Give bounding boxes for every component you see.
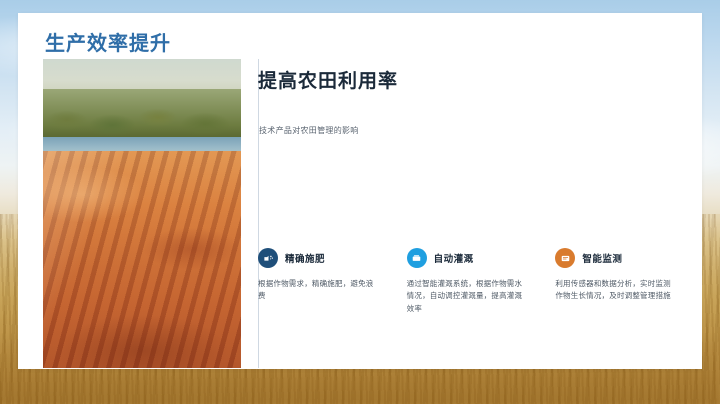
page-title: 生产效率提升 bbox=[45, 27, 171, 56]
irrigation-icon bbox=[407, 248, 427, 268]
fertilizer-icon bbox=[258, 248, 278, 268]
feature-description: 通过智能灌溉系统，根据作物需水情况，自动调控灌溉量，提高灌溉效率 bbox=[407, 278, 530, 315]
feature-header: 智能监测 bbox=[555, 247, 678, 269]
section-title: 提高农田利用率 bbox=[258, 66, 398, 93]
feature-title: 智能监测 bbox=[582, 251, 622, 265]
feature-title: 精确施肥 bbox=[285, 251, 325, 265]
slide: 生产效率提升 提高农田利用率 技术产品对农田管理的影响 精确施肥 根 bbox=[0, 0, 720, 404]
photo-trees bbox=[43, 89, 241, 141]
feature-header: 精确施肥 bbox=[258, 247, 381, 269]
feature-item-smart-monitoring: 智能监测 利用传感器和数据分析，实时监测作物生长情况，及时调整管理措施 bbox=[555, 247, 678, 315]
feature-header: 自动灌溉 bbox=[407, 247, 530, 269]
monitoring-icon bbox=[555, 248, 575, 268]
feature-description: 根据作物需求，精确施肥，避免浪费 bbox=[258, 278, 381, 303]
vertical-divider bbox=[258, 59, 259, 368]
photo-rock-formation bbox=[43, 151, 241, 368]
feature-item-auto-irrigation: 自动灌溉 通过智能灌溉系统，根据作物需水情况，自动调控灌溉量，提高灌溉效率 bbox=[407, 247, 530, 315]
feature-list: 精确施肥 根据作物需求，精确施肥，避免浪费 自动灌溉 通过智能灌溉系统，根据作物… bbox=[258, 247, 678, 315]
feature-title: 自动灌溉 bbox=[434, 251, 474, 265]
feature-description: 利用传感器和数据分析，实时监测作物生长情况，及时调整管理措施 bbox=[555, 278, 678, 303]
feature-item-precise-fertilization: 精确施肥 根据作物需求，精确施肥，避免浪费 bbox=[258, 247, 381, 315]
section-subtitle: 技术产品对农田管理的影响 bbox=[259, 125, 359, 136]
landscape-photo bbox=[43, 59, 241, 368]
